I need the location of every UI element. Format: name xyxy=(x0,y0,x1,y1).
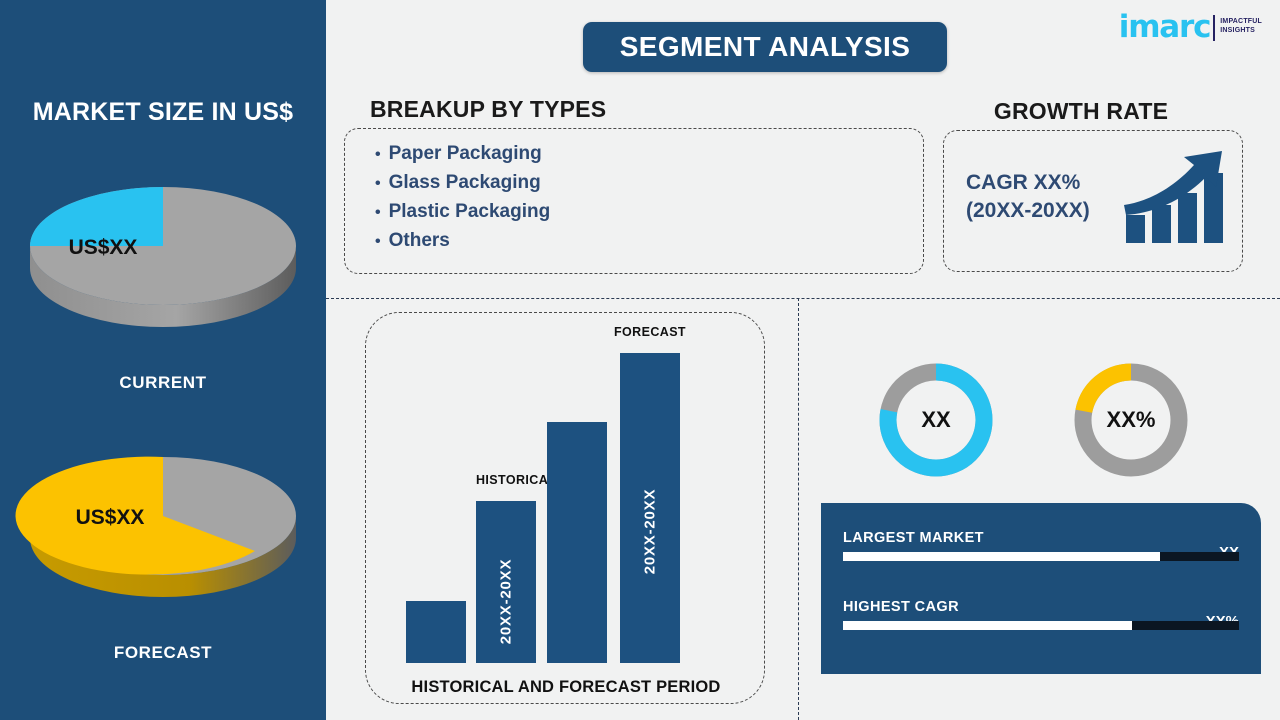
divider-horizontal xyxy=(326,298,1280,299)
bullet-icon: • xyxy=(375,205,381,221)
kpi-progress-fill xyxy=(843,552,1160,561)
breakup-heading: BREAKUP BY TYPES xyxy=(370,96,606,123)
growth-box: CAGR XX% (20XX-20XX) xyxy=(943,130,1243,272)
list-item: • Plastic Packaging xyxy=(375,201,550,223)
kpi-label: LARGEST MARKET xyxy=(843,530,984,546)
bar-2-label: 20XX-20XX xyxy=(498,559,515,645)
kpi-progress-fill xyxy=(843,621,1132,630)
bar-annotation-forecast: FORECAST xyxy=(614,325,686,339)
bar-4: 20XX-20XX xyxy=(620,353,680,663)
kpi-label: HIGHEST CAGR xyxy=(843,599,959,615)
list-item-label: Plastic Packaging xyxy=(389,201,551,223)
pie-current-svg: US$XX xyxy=(0,168,326,328)
breakup-box: • Paper Packaging • Glass Packaging • Pl… xyxy=(344,128,924,274)
pie-forecast-value: US$XX xyxy=(76,506,145,529)
logo-tagline-line1: IMPACTFUL xyxy=(1220,17,1262,26)
kpi-panel: LARGEST MARKET XX HIGHEST CAGR XX% xyxy=(821,503,1261,674)
list-item-label: Others xyxy=(389,230,450,252)
pie-current-label: CURRENT xyxy=(0,373,326,393)
kpi-progress-track xyxy=(843,552,1239,561)
growth-arrow-bars-icon xyxy=(1122,143,1230,252)
imarc-logo: imarc IMPACTFUL INSIGHTS xyxy=(1119,12,1262,50)
bullet-icon: • xyxy=(375,234,381,250)
list-item-label: Paper Packaging xyxy=(389,143,542,165)
historical-forecast-chart: 20XX-20XX HISTORICAL 20XX-20XX FORECAST … xyxy=(365,312,765,704)
bar-1 xyxy=(406,601,466,663)
bar-2: 20XX-20XX xyxy=(476,501,536,663)
cagr-text: CAGR XX% (20XX-20XX) xyxy=(966,169,1090,225)
main-panel: SEGMENT ANALYSIS imarc IMPACTFUL INSIGHT… xyxy=(326,0,1280,720)
bar-chart-area: 20XX-20XX HISTORICAL 20XX-20XX FORECAST … xyxy=(366,313,766,705)
kpi-row-highest-cagr: HIGHEST CAGR XX% xyxy=(843,598,1239,630)
list-item: • Glass Packaging xyxy=(375,172,550,194)
list-item: • Paper Packaging xyxy=(375,143,550,165)
donut-2-center-label: XX% xyxy=(1071,360,1191,480)
donut-chart-value: XX xyxy=(876,360,996,480)
logo-wordmark: imarc xyxy=(1119,12,1211,43)
bar-4-label: 20XX-20XX xyxy=(642,489,659,575)
sidebar: MARKET SIZE IN US$ US$XX CURRENT xyxy=(0,0,326,720)
logo-divider xyxy=(1213,15,1215,41)
growth-heading: GROWTH RATE xyxy=(926,98,1236,125)
bar-3 xyxy=(547,422,607,663)
kpi-row-largest-market: LARGEST MARKET XX xyxy=(843,529,1239,561)
pie-forecast-label: FORECAST xyxy=(0,643,326,663)
page-title-text: SEGMENT ANALYSIS xyxy=(620,31,911,63)
sidebar-title: MARKET SIZE IN US$ xyxy=(0,98,326,127)
cagr-line-2: (20XX-20XX) xyxy=(966,197,1090,225)
bullet-icon: • xyxy=(375,176,381,192)
page-title: SEGMENT ANALYSIS xyxy=(583,22,947,72)
pie-forecast-svg: US$XX xyxy=(0,438,326,598)
breakup-list: • Paper Packaging • Glass Packaging • Pl… xyxy=(375,143,550,259)
pie-current-value: US$XX xyxy=(69,236,138,259)
cagr-line-1: CAGR XX% xyxy=(966,169,1090,197)
logo-tagline-line2: INSIGHTS xyxy=(1220,26,1262,35)
list-item-label: Glass Packaging xyxy=(389,172,541,194)
bar-chart-caption: HISTORICAL AND FORECAST PERIOD xyxy=(366,678,766,697)
list-item: • Others xyxy=(375,230,550,252)
bullet-icon: • xyxy=(375,147,381,163)
kpi-progress-track xyxy=(843,621,1239,630)
divider-vertical xyxy=(798,298,799,720)
pie-chart-current: US$XX CURRENT xyxy=(0,168,326,393)
logo-tagline: IMPACTFUL INSIGHTS xyxy=(1220,17,1262,35)
bar-annotation-historical: HISTORICAL xyxy=(476,473,536,487)
donut-chart-percent: XX% xyxy=(1071,360,1191,480)
donut-1-center-label: XX xyxy=(876,360,996,480)
pie-chart-forecast: US$XX FORECAST xyxy=(0,438,326,663)
